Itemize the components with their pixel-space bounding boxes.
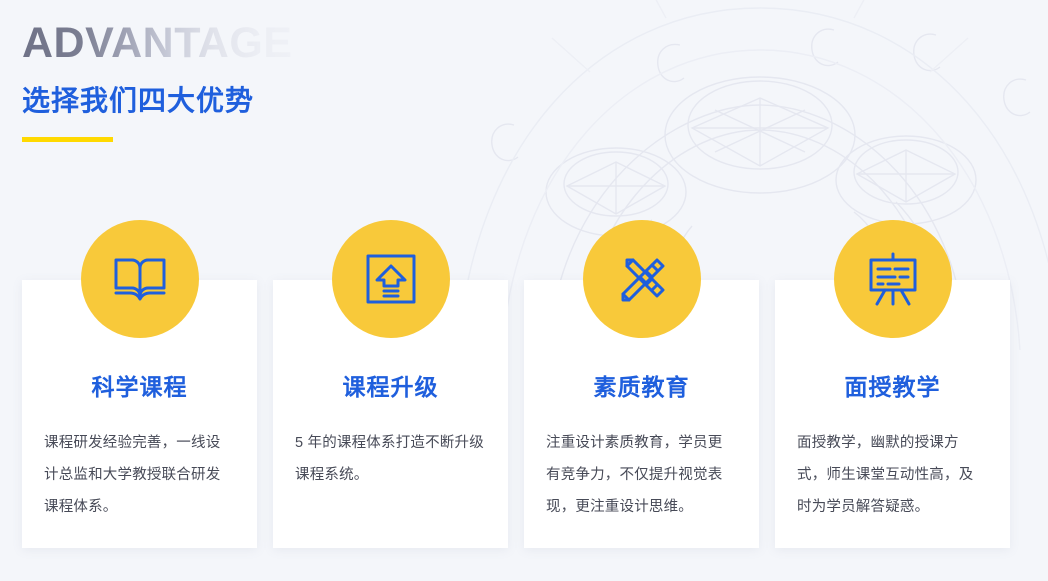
- icon-badge: [583, 220, 701, 338]
- open-book-icon: [112, 254, 168, 304]
- advantage-card-1[interactable]: 科学课程 课程研发经验完善，一线设计总监和大学教授联合研发课程体系。: [22, 220, 257, 548]
- card-title: 科学课程: [44, 376, 235, 399]
- card-title: 面授教学: [797, 376, 988, 399]
- page-title: 选择我们四大优势: [22, 87, 292, 115]
- advantage-card-4[interactable]: 面授教学 面授教学，幽默的授课方式，师生课堂互动性高，及时为学员解答疑惑。: [775, 220, 1010, 548]
- icon-badge: [81, 220, 199, 338]
- advantage-card-list: 科学课程 课程研发经验完善，一线设计总监和大学教授联合研发课程体系。 课程升级 …: [22, 220, 1006, 548]
- advantage-card-3[interactable]: 素质教育 注重设计素质教育，学员更有竞争力，不仅提升视觉表现，更注重设计思维。: [524, 220, 759, 548]
- icon-badge: [332, 220, 450, 338]
- section-header: ADVANTAGE 选择我们四大优势: [22, 22, 292, 142]
- card-description: 课程研发经验完善，一线设计总监和大学教授联合研发课程体系。: [44, 427, 235, 523]
- card-title: 素质教育: [546, 376, 737, 399]
- card-description: 面授教学，幽默的授课方式，师生课堂互动性高，及时为学员解答疑惑。: [797, 427, 988, 523]
- upgrade-arrow-box-icon: [365, 253, 417, 305]
- icon-badge: [834, 220, 952, 338]
- pencil-ruler-cross-icon: [614, 251, 670, 307]
- advantage-card-2[interactable]: 课程升级 5 年的课程体系打造不断升级课程系统。: [273, 220, 508, 548]
- title-accent-rule: [22, 137, 113, 142]
- easel-whiteboard-icon: [864, 252, 922, 306]
- card-title: 课程升级: [295, 376, 486, 399]
- card-description: 注重设计素质教育，学员更有竞争力，不仅提升视觉表现，更注重设计思维。: [546, 427, 737, 523]
- card-description: 5 年的课程体系打造不断升级课程系统。: [295, 427, 486, 491]
- page-eyebrow: ADVANTAGE: [22, 22, 292, 65]
